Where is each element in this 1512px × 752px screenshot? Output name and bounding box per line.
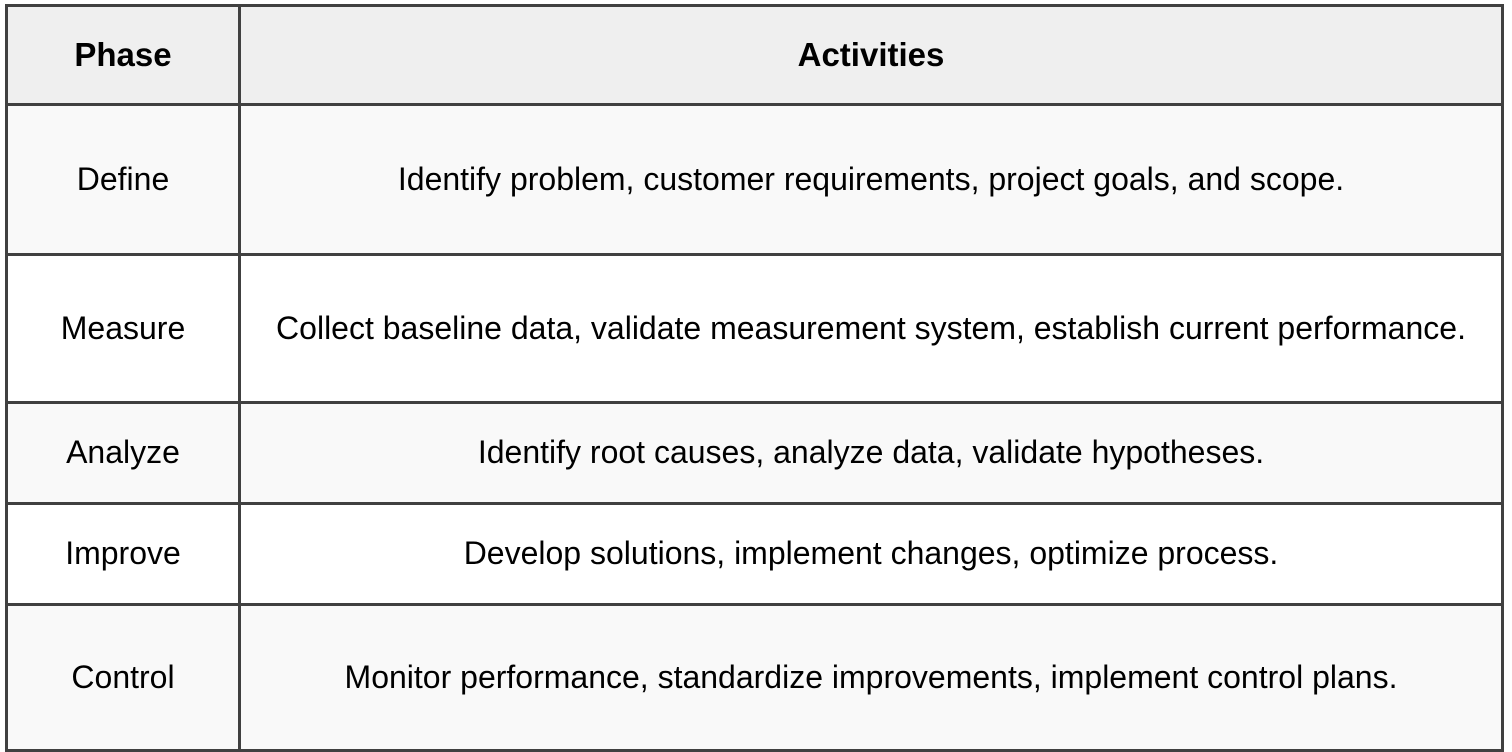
cell-phase-control: Control xyxy=(7,605,240,751)
column-header-phase: Phase xyxy=(7,6,240,105)
cell-phase-analyze: Analyze xyxy=(7,403,240,504)
cell-activities-analyze: Identify root causes, analyze data, vali… xyxy=(240,403,1503,504)
cell-activities-define: Identify problem, customer requirements,… xyxy=(240,105,1503,255)
table-row: Control Monitor performance, standardize… xyxy=(7,605,1503,751)
column-header-activities: Activities xyxy=(240,6,1503,105)
dmaic-phases-table: Phase Activities Define Identify problem… xyxy=(5,4,1504,752)
table-row: Analyze Identify root causes, analyze da… xyxy=(7,403,1503,504)
cell-activities-improve: Develop solutions, implement changes, op… xyxy=(240,504,1503,605)
table-container: Phase Activities Define Identify problem… xyxy=(0,0,1512,681)
cell-activities-control: Monitor performance, standardize improve… xyxy=(240,605,1503,751)
cell-phase-improve: Improve xyxy=(7,504,240,605)
table-row: Define Identify problem, customer requir… xyxy=(7,105,1503,255)
table-header: Phase Activities xyxy=(7,6,1503,105)
table-body: Define Identify problem, customer requir… xyxy=(7,105,1503,751)
table-row: Measure Collect baseline data, validate … xyxy=(7,255,1503,403)
cell-phase-define: Define xyxy=(7,105,240,255)
cell-phase-measure: Measure xyxy=(7,255,240,403)
table-header-row: Phase Activities xyxy=(7,6,1503,105)
cell-activities-measure: Collect baseline data, validate measurem… xyxy=(240,255,1503,403)
table-row: Improve Develop solutions, implement cha… xyxy=(7,504,1503,605)
